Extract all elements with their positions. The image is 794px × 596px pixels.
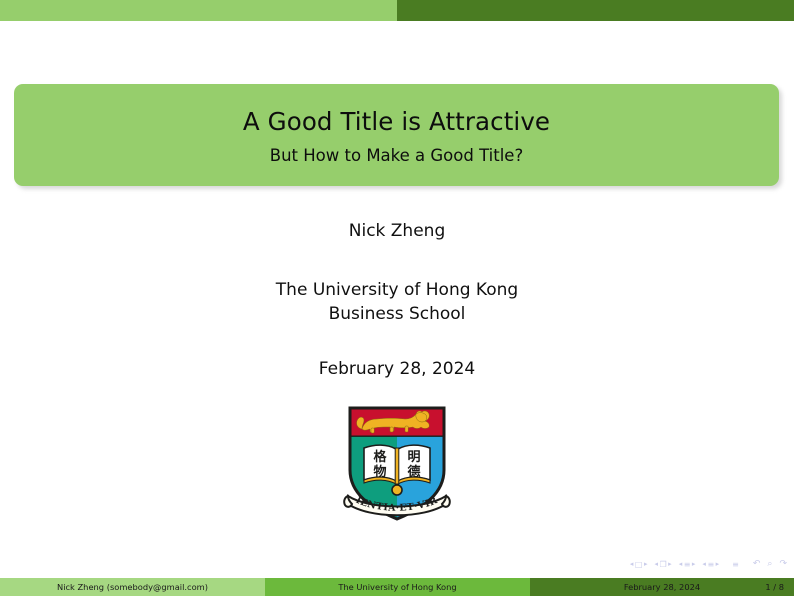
footline-date-section: February 28, 2024 1 / 8	[530, 578, 794, 596]
svg-text:明: 明	[407, 450, 420, 465]
nav-slide-icon[interactable]: □	[635, 560, 643, 569]
nav-back-icon[interactable]: ◂	[630, 561, 634, 568]
nav-search-icon[interactable]: ⌕	[767, 559, 772, 569]
nav-section-forward-icon[interactable]: ▸	[716, 561, 720, 568]
page-subtitle: But How to Make a Good Title?	[270, 147, 523, 165]
title-block: A Good Title is Attractive But How to Ma…	[14, 84, 779, 186]
nav-frame-group[interactable]: ◂ ❐ ▸	[654, 560, 671, 569]
nav-subsection-icon[interactable]: ≡	[684, 560, 691, 569]
nav-frame-icon[interactable]: ❐	[660, 560, 667, 569]
nav-section-group[interactable]: ◂ ≡ ▸	[702, 560, 719, 569]
institute-line-1: The University of Hong Kong	[0, 278, 794, 302]
footline-institute: The University of Hong Kong	[265, 578, 530, 596]
institute: The University of Hong Kong Business Sch…	[0, 278, 794, 326]
head-decoration-bar	[0, 0, 794, 21]
footline-date: February 28, 2024	[530, 582, 794, 592]
hku-crest-logo: 格 物 明 德 SAPIENTIA·ET·VIRTUS	[342, 398, 452, 524]
nav-frame-back-icon[interactable]: ◂	[654, 561, 658, 568]
nav-slide-group[interactable]: ◂ □ ▸	[630, 560, 648, 569]
nav-subsection-group[interactable]: ◂ ≡ ▸	[679, 560, 696, 569]
nav-presentation-icon[interactable]: ≡	[732, 560, 739, 569]
footline-author: Nick Zheng (somebody@gmail.com)	[0, 578, 265, 596]
presentation-date: February 28, 2024	[0, 360, 794, 380]
title-metadata: Nick Zheng The University of Hong Kong B…	[0, 222, 794, 379]
head-bar-dark-segment	[397, 0, 794, 21]
nav-subsection-back-icon[interactable]: ◂	[679, 561, 683, 568]
svg-text:物: 物	[373, 464, 386, 480]
nav-subsection-forward-icon[interactable]: ▸	[692, 561, 696, 568]
nav-frame-forward-icon[interactable]: ▸	[668, 561, 672, 568]
author-name: Nick Zheng	[0, 222, 794, 242]
head-bar-light-segment	[0, 0, 397, 21]
nav-undo-icon[interactable]: ↶	[753, 559, 761, 569]
nav-redo-icon[interactable]: ↷	[779, 559, 787, 569]
footline: Nick Zheng (somebody@gmail.com) The Univ…	[0, 578, 794, 596]
nav-section-icon[interactable]: ≡	[707, 560, 714, 569]
nav-forward-icon[interactable]: ▸	[644, 561, 648, 568]
footline-page-number: 1 / 8	[765, 582, 784, 592]
institute-line-2: Business School	[0, 302, 794, 326]
svg-text:格: 格	[373, 449, 387, 465]
beamer-navigation-symbols[interactable]: ◂ □ ▸ ◂ ❐ ▸ ◂ ≡ ▸ ◂ ≡ ▸ ≡ ↶ ⌕ ↷	[630, 557, 787, 571]
svg-text:德: 德	[407, 464, 420, 480]
nav-section-back-icon[interactable]: ◂	[702, 561, 706, 568]
page-title: A Good Title is Attractive	[243, 109, 550, 136]
